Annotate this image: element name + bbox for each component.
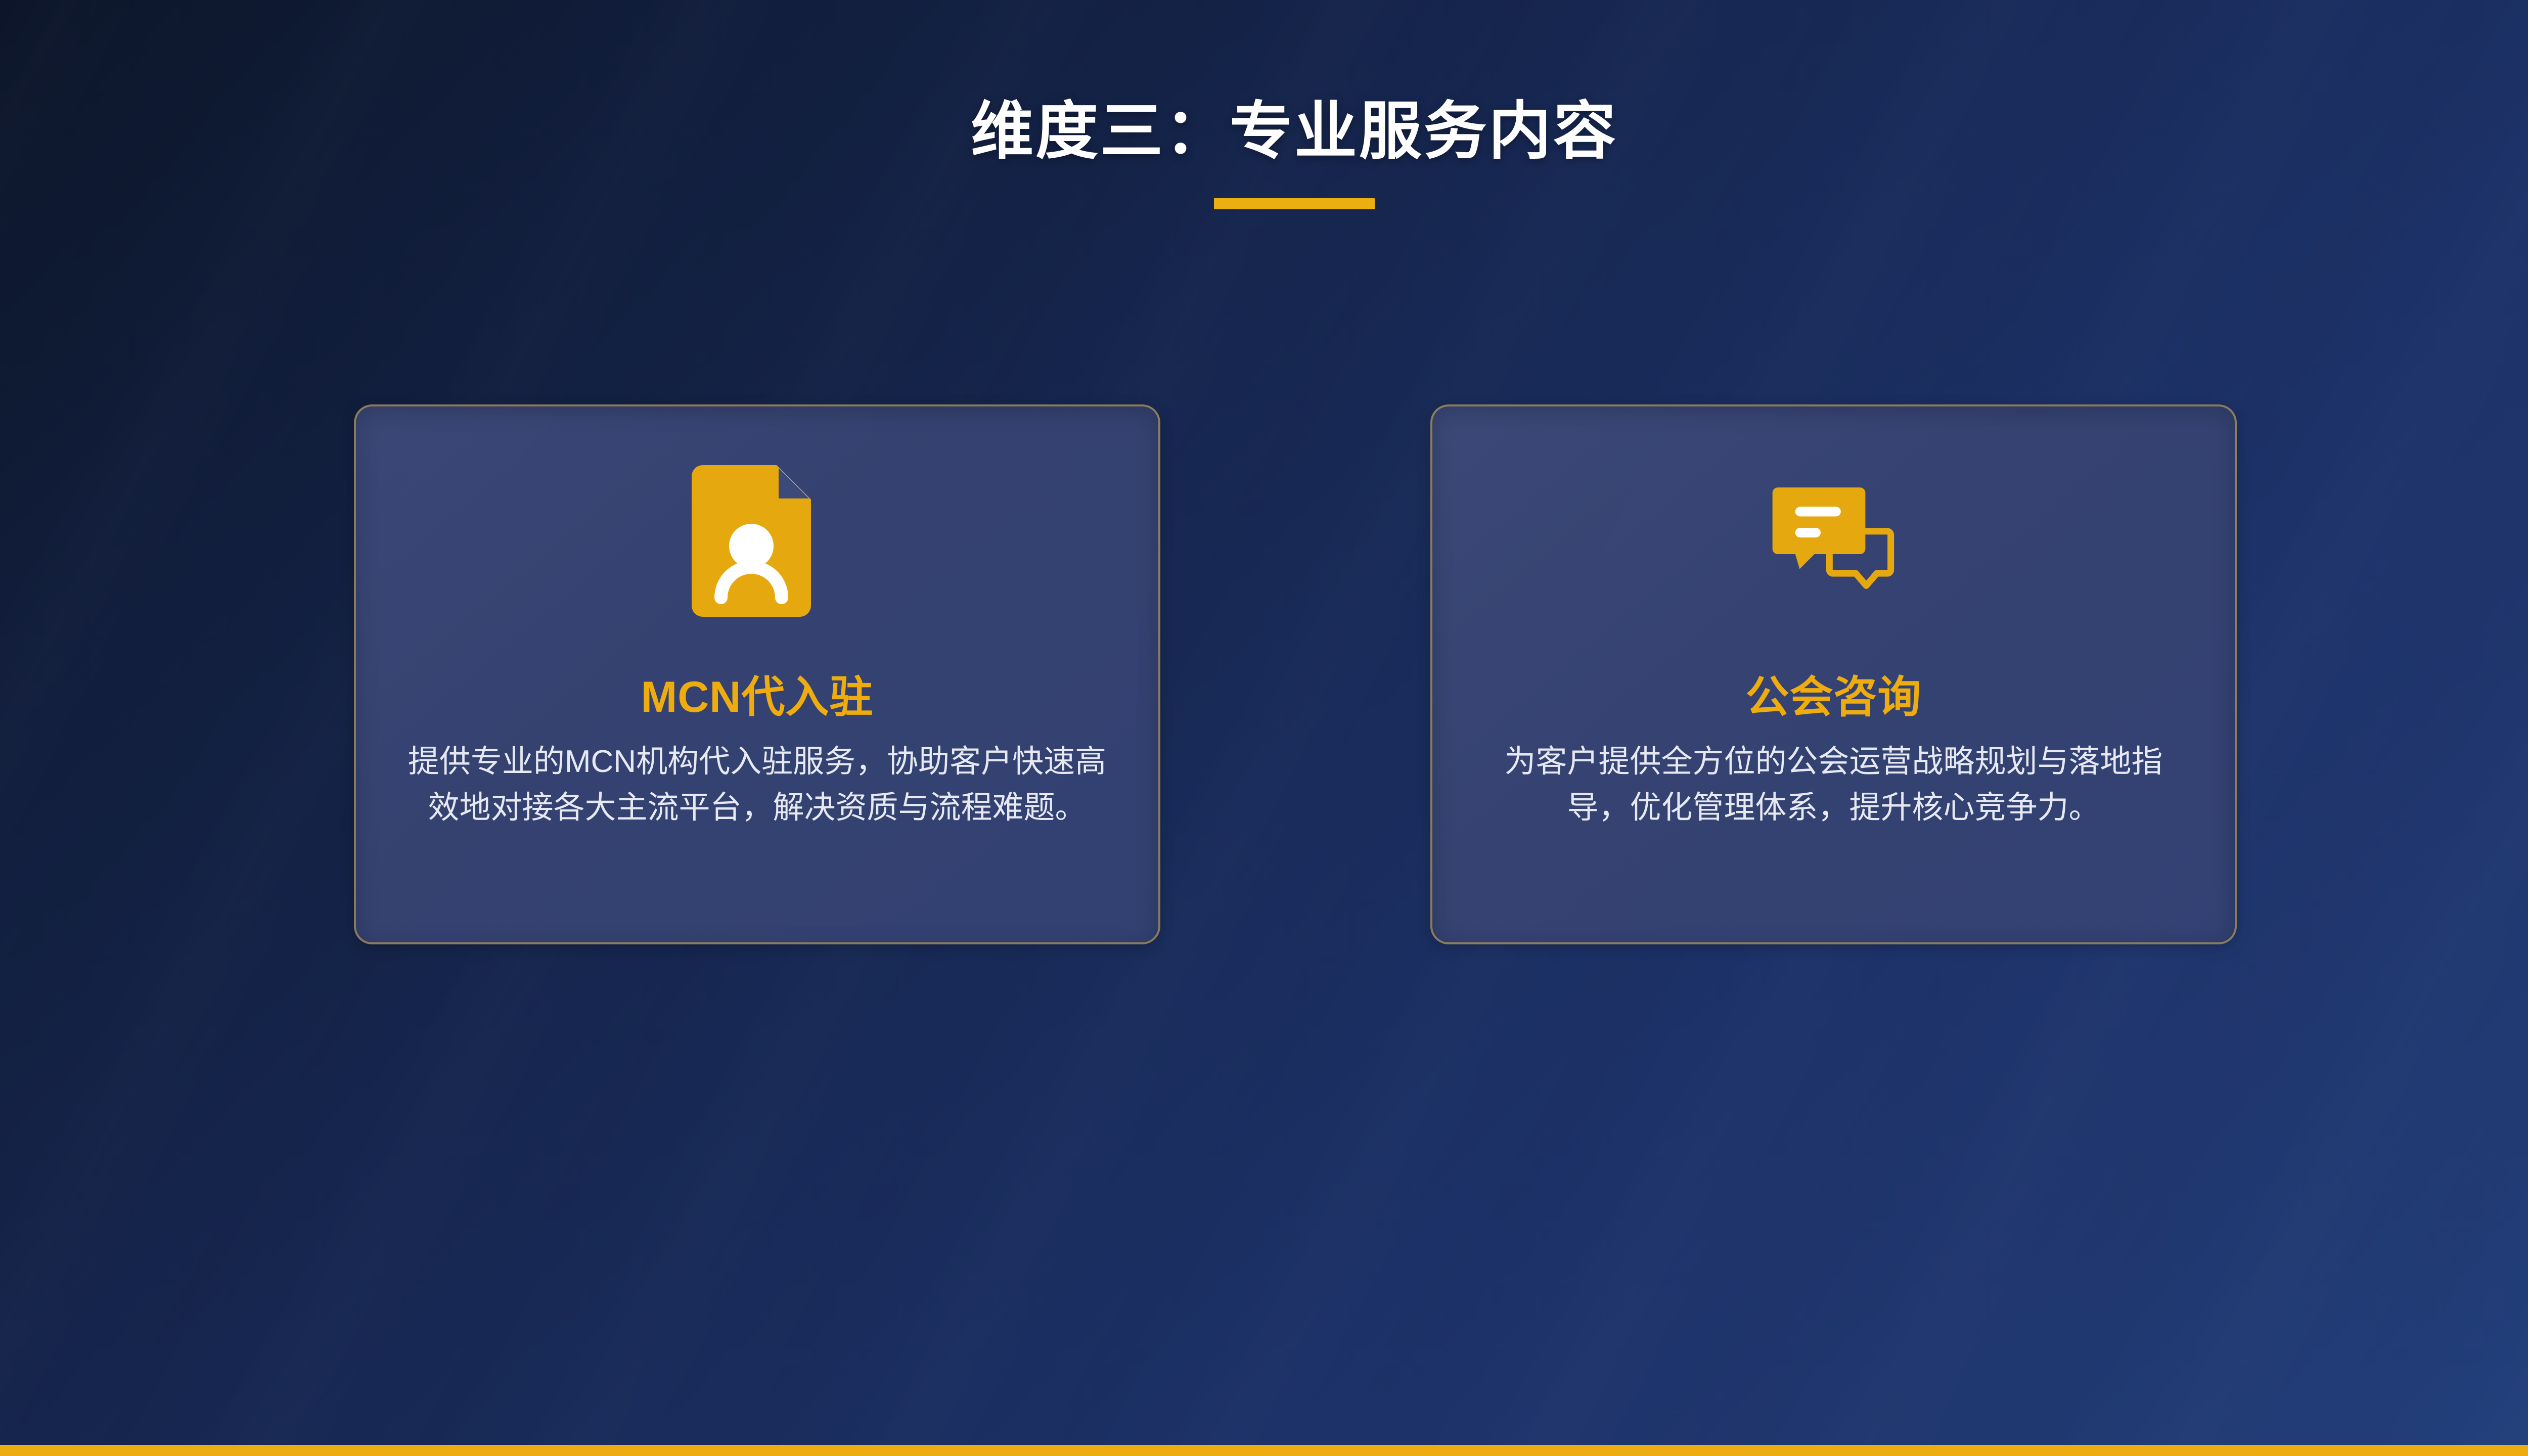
page-title: 维度三：专业服务内容	[0, 0, 2528, 163]
card-title: MCN代入驻	[641, 617, 874, 720]
slide-root: 维度三：专业服务内容 MCN代入驻 提供专业的MCN机构代入驻服务，协助客户快速…	[0, 0, 2528, 1456]
slide-header: 维度三：专业服务内容	[0, 0, 2528, 209]
card-description: 提供专业的MCN机构代入驻服务，协助客户快速高效地对接各大主流平台，解决资质与流…	[398, 720, 1116, 831]
chat-bubbles-icon	[1768, 465, 1900, 617]
card-title: 公会咨询	[1746, 617, 1922, 720]
title-accent-bar	[1214, 198, 1375, 209]
service-card-list: MCN代入驻 提供专业的MCN机构代入驻服务，协助客户快速高效地对接各大主流平台…	[354, 404, 2237, 944]
service-card-mcn[interactable]: MCN代入驻 提供专业的MCN机构代入驻服务，协助客户快速高效地对接各大主流平台…	[354, 404, 1160, 944]
service-card-consulting[interactable]: 公会咨询 为客户提供全方位的公会运营战略规划与落地指导，优化管理体系，提升核心竞…	[1430, 404, 2237, 944]
footer-accent-bar	[0, 1445, 2528, 1456]
card-description: 为客户提供全方位的公会运营战略规划与落地指导，优化管理体系，提升核心竞争力。	[1475, 720, 2192, 831]
document-person-icon	[692, 465, 823, 617]
